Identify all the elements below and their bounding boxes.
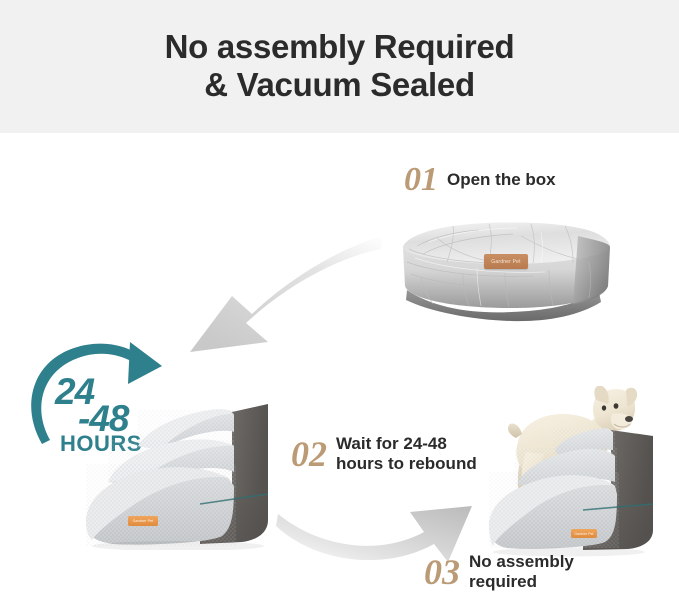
pet-stairs-right: Gardner Pet: [487, 428, 679, 561]
arrow-box-to-stairs: [176, 230, 386, 360]
package-brand-label: Gardner Pet: [484, 254, 528, 269]
vacuum-sealed-package: Gardner Pet: [393, 216, 621, 324]
step-03-number: 03: [424, 555, 460, 589]
step-01-text: Open the box: [447, 170, 556, 190]
package-illustration: [393, 216, 621, 324]
pet-stairs-left: Gardner Pet: [82, 398, 287, 550]
step-02: 02 Wait for 24-48 hours to rebound: [291, 434, 477, 474]
step-02-number: 02: [291, 437, 327, 471]
step-03: 03 No assembly required: [424, 552, 574, 592]
product-infographic: No assembly Required & Vacuum Sealed: [0, 0, 679, 599]
step-01-number: 01: [404, 163, 438, 197]
stairs-brand-tag-left: Gardner Pet: [128, 516, 158, 526]
title-line-1: No assembly Required: [0, 28, 679, 66]
curved-arrow-down-left-icon: [176, 230, 386, 355]
pet-stairs-illustration: [487, 428, 679, 561]
header-band: No assembly Required & Vacuum Sealed: [0, 0, 679, 133]
pet-stairs-illustration: [82, 398, 287, 550]
step-01: 01 Open the box: [404, 163, 556, 197]
stairs-brand-tag-right: Gardner Pet: [571, 529, 597, 538]
title-line-2: & Vacuum Sealed: [0, 66, 679, 104]
step-02-text: Wait for 24-48 hours to rebound: [336, 434, 477, 474]
step-03-text: No assembly required: [469, 552, 574, 592]
page-title: No assembly Required & Vacuum Sealed: [0, 28, 679, 104]
